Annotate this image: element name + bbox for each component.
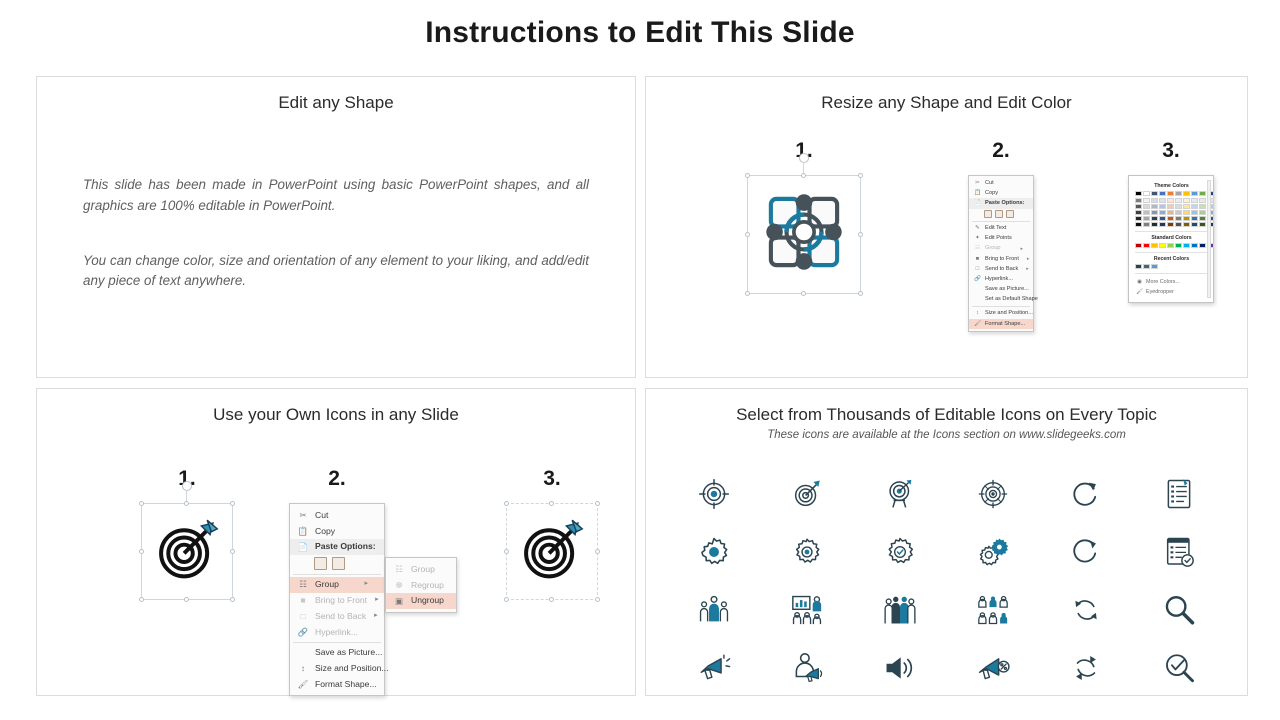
ctx-item-size-and-position[interactable]: ↕Size and Position... (969, 309, 1033, 319)
recent-colors-row[interactable] (1135, 264, 1207, 269)
send-back-icon: □ (973, 266, 982, 273)
ctx-label: Group (315, 579, 339, 590)
submenu-item-group[interactable]: ☷Group (386, 561, 456, 577)
target-stand-icon (883, 477, 917, 511)
ctx-label: Size and Position... (315, 663, 389, 674)
shape-context-menu[interactable]: ✂Cut 📋Copy 📄Paste Options: ✎Edit Text ✦E… (968, 175, 1034, 332)
regroup-icon: ☸ (392, 580, 406, 591)
editable-icons-grid (668, 465, 1225, 697)
theme-shade-swatch[interactable] (1191, 204, 1198, 209)
theme-shade-swatch[interactable] (1143, 204, 1150, 209)
rotate-handle-icon[interactable] (182, 481, 192, 491)
theme-shade-swatch[interactable] (1199, 216, 1206, 221)
ctx-item-save-as-picture[interactable]: Save as Picture... (290, 644, 384, 660)
divider (1135, 252, 1207, 253)
submenu-item-ungroup[interactable]: ▣Ungroup (386, 593, 456, 609)
size-position-icon: ↕ (296, 663, 310, 674)
ctx-item-save-as-picture[interactable]: Save as Picture... (969, 285, 1033, 295)
theme-shade-swatch[interactable] (1183, 210, 1190, 215)
more-colors-option[interactable]: ◉More Colors... (1135, 277, 1207, 287)
ungroup-icon: ▣ (392, 596, 406, 607)
theme-color-swatch[interactable] (1135, 191, 1142, 196)
theme-color-swatch[interactable] (1175, 191, 1182, 196)
ctx-item-copy[interactable]: 📋Copy (290, 523, 384, 539)
megaphone-icon (697, 651, 731, 685)
paste-option-buttons[interactable] (290, 555, 384, 573)
group-submenu[interactable]: ☷Group ☸Regroup ▣Ungroup (385, 557, 457, 613)
ctx-label: Format Shape... (315, 679, 377, 690)
ctx-item-hyperlink[interactable]: 🔗Hyperlink... (969, 274, 1033, 284)
resize-handle-ml[interactable] (745, 232, 750, 237)
divider (1135, 231, 1207, 232)
icon-cell[interactable] (883, 477, 917, 511)
gears-double-icon (976, 535, 1010, 569)
context-menu-art[interactable]: ✂Cut 📋Copy 📄Paste Options: ✎Edit Text ✦E… (968, 175, 1034, 332)
resize-handle-tc[interactable] (549, 501, 554, 506)
standard-color-swatch[interactable] (1151, 243, 1158, 248)
theme-shade-swatch[interactable] (1191, 222, 1198, 227)
gear-check-icon (883, 535, 917, 569)
person-megaphone-icon (790, 651, 824, 685)
standard-color-swatch[interactable] (1175, 243, 1182, 248)
standard-color-swatch[interactable] (1191, 243, 1198, 248)
ctx-label: Copy (315, 526, 335, 537)
resize-handle-bl[interactable] (139, 597, 144, 602)
gear-filled-icon (697, 535, 731, 569)
panel-subtitle-editable-icons: These icons are available at the Icons s… (646, 425, 1247, 441)
resize-handle-tc[interactable] (184, 501, 189, 506)
ctx-item-edit-text[interactable]: ✎Edit Text (969, 224, 1033, 234)
theme-shade-swatch[interactable] (1175, 222, 1182, 227)
resize-step-3: 3. Theme Colors Standard Colors Recent C… (1096, 139, 1246, 303)
theme-shade-swatch[interactable] (1167, 198, 1174, 203)
resize-handle-bl[interactable] (504, 597, 509, 602)
ctx-label: Save as Picture... (985, 286, 1029, 293)
ctx-label: Send to Back (985, 266, 1018, 273)
ctx-label: Regroup (411, 580, 444, 591)
icon-cell[interactable] (790, 593, 824, 627)
edit-shape-body: This slide has been made in PowerPoint u… (37, 175, 635, 292)
theme-shade-swatch[interactable] (1191, 216, 1198, 221)
standard-color-swatch[interactable] (1183, 243, 1190, 248)
ctx-separator (293, 574, 381, 575)
ctx-label: Edit Text (985, 225, 1006, 232)
resize-handle-br[interactable] (595, 597, 600, 602)
icon-cell[interactable] (1069, 651, 1103, 685)
color-picker-panel[interactable]: Theme Colors Standard Colors Recent Colo… (1128, 175, 1214, 303)
theme-shade-swatch[interactable] (1135, 210, 1142, 215)
scissors-icon: ✂ (296, 510, 310, 521)
standard-color-swatch[interactable] (1199, 243, 1206, 248)
step-number: 3. (1096, 139, 1246, 163)
ctx-label: Copy (985, 190, 998, 197)
theme-shade-swatch[interactable] (1135, 198, 1142, 203)
ctx-label: Send to Back (315, 611, 366, 622)
ctx-label: Cut (985, 180, 994, 187)
step-number: 2. (911, 139, 1091, 163)
edit-text-icon: ✎ (973, 225, 982, 232)
panel-editable-icons: Select from Thousands of Editable Icons … (645, 388, 1248, 696)
icon-cell[interactable] (697, 535, 731, 569)
resize-handle-bc[interactable] (184, 597, 189, 602)
recent-color-swatch[interactable] (1135, 264, 1142, 269)
panel-resize-shape: Resize any Shape and Edit Color 1. (645, 76, 1248, 378)
crosshair-scope-icon (976, 477, 1010, 511)
paste-picture-icon[interactable] (1006, 210, 1014, 218)
theme-shade-swatch[interactable] (1151, 216, 1158, 221)
theme-colors-shades-grid[interactable] (1135, 198, 1207, 227)
ctx-label: Ungroup (411, 595, 444, 606)
selected-shape-art[interactable] (747, 175, 861, 294)
theme-shade-swatch[interactable] (1183, 222, 1190, 227)
theme-colors-label: Theme Colors (1136, 183, 1207, 189)
edit-points-icon: ✦ (973, 235, 982, 242)
theme-shade-swatch[interactable] (1167, 222, 1174, 227)
more-colors-label: More Colors... (1146, 279, 1180, 285)
resize-handle-tr[interactable] (595, 501, 600, 506)
ctx-separator (972, 221, 1030, 222)
standard-color-swatch[interactable] (1135, 243, 1142, 248)
ctx-item-edit-points[interactable]: ✦Edit Points (969, 234, 1033, 244)
theme-shade-swatch[interactable] (1159, 210, 1166, 215)
selection-frame[interactable] (747, 175, 861, 294)
panel-title-own-icons: Use your Own Icons in any Slide (37, 389, 635, 425)
theme-shade-swatch[interactable] (1135, 204, 1142, 209)
ctx-item-cut[interactable]: ✂Cut (969, 178, 1033, 188)
group-context-menu-art[interactable]: ✂Cut 📋Copy 📄Paste Options: ☷Group▸ ■Brin… (289, 503, 385, 696)
refresh-arrow-icon (1069, 477, 1103, 511)
icon-cell[interactable] (883, 651, 917, 685)
resize-handle-br[interactable] (858, 291, 863, 296)
leader-team-icon (697, 593, 731, 627)
theme-shade-swatch[interactable] (1151, 204, 1158, 209)
theme-shade-swatch[interactable] (1167, 210, 1174, 215)
theme-shade-swatch[interactable] (1175, 198, 1182, 203)
ctx-item-format-shape[interactable]: 🖌Format Shape... (290, 676, 384, 692)
ctx-label: Hyperlink... (315, 627, 358, 638)
magnifier-check-icon (1162, 651, 1196, 685)
selection-frame[interactable] (141, 503, 233, 600)
theme-shade-swatch[interactable] (1143, 222, 1150, 227)
paste-icon: 📄 (973, 200, 982, 207)
selected-target-icon-art[interactable] (141, 503, 233, 600)
ctx-separator (293, 642, 381, 643)
paste-icon: 📄 (296, 542, 310, 553)
ctx-label: Format Shape... (985, 321, 1025, 328)
recent-color-swatch[interactable] (1143, 264, 1150, 269)
theme-color-swatch[interactable] (1199, 191, 1206, 196)
theme-shade-swatch[interactable] (1159, 198, 1166, 203)
theme-shade-swatch[interactable] (1199, 204, 1206, 209)
theme-shade-swatch[interactable] (1135, 216, 1142, 221)
step-number: 2. (222, 467, 452, 491)
ctx-item-group[interactable]: ☷Group▸ (290, 577, 384, 593)
ctx-item-format-shape[interactable]: 🖌Format Shape... (969, 319, 1033, 329)
team-network-icon (976, 593, 1010, 627)
standard-colors-row[interactable] (1135, 243, 1207, 248)
standard-color-swatch[interactable] (1159, 243, 1166, 248)
ungrouped-target-icon-art[interactable] (506, 503, 598, 600)
ctx-item-bring-to-front[interactable]: ■Bring to Front▸ (290, 593, 384, 609)
icon-cell[interactable] (976, 535, 1010, 569)
theme-shade-swatch[interactable] (1175, 210, 1182, 215)
theme-color-swatch[interactable] (1151, 191, 1158, 196)
icon-cell[interactable] (790, 651, 824, 685)
eyedropper-icon: 🖌 (1136, 289, 1143, 295)
ctx-label: Group (985, 245, 1001, 252)
dartboard-arrow-icon (151, 513, 223, 585)
resize-handle-ml[interactable] (504, 549, 509, 554)
theme-color-swatch[interactable] (1167, 191, 1174, 196)
resize-handle-bl[interactable] (745, 291, 750, 296)
chevron-right-icon: ▸ (1018, 266, 1029, 272)
chevron-right-icon: ▸ (367, 596, 379, 605)
paste-merge-formatting-icon[interactable] (995, 210, 1003, 218)
ctx-item-hyperlink[interactable]: 🔗Hyperlink... (290, 625, 384, 641)
ctx-label: Bring to Front (315, 595, 367, 606)
ctx-label: Bring to Front (985, 256, 1019, 263)
color-picker-scrollbar[interactable] (1207, 180, 1211, 298)
palette-icon: ◉ (1136, 279, 1143, 285)
chevron-right-icon: ▸ (1019, 256, 1030, 262)
icon-cell[interactable] (790, 477, 824, 511)
gear-circle-icon (790, 535, 824, 569)
icon-cell[interactable] (1162, 535, 1196, 569)
chevron-right-icon: ▸ (1012, 246, 1023, 252)
ctx-item-send-to-back[interactable]: □Send to Back▸ (290, 609, 384, 625)
theme-shade-swatch[interactable] (1183, 204, 1190, 209)
icon-cell[interactable] (883, 593, 917, 627)
theme-shade-swatch[interactable] (1143, 198, 1150, 203)
ctx-label: Cut (315, 510, 328, 521)
speaker-loud-icon (883, 651, 917, 685)
resize-step-1: 1. (714, 139, 894, 294)
icon-cell[interactable] (697, 651, 731, 685)
edit-shape-paragraph-2: You can change color, size and orientati… (83, 251, 589, 293)
paste-picture-icon[interactable] (332, 557, 345, 570)
hyperlink-icon: 🔗 (296, 627, 310, 638)
sync-circle-icon (1069, 651, 1103, 685)
icon-cell[interactable] (976, 477, 1010, 511)
ctx-item-copy[interactable]: 📋Copy (969, 188, 1033, 198)
theme-shade-swatch[interactable] (1167, 204, 1174, 209)
people-group-icon (883, 593, 917, 627)
ctx-label: Edit Points (985, 235, 1012, 242)
icon-cell[interactable] (790, 535, 824, 569)
ctx-label: Save as Picture... (315, 647, 382, 658)
ctx-item-bring-to-front[interactable]: ■Bring to Front▸ (969, 254, 1033, 264)
refresh-circle-icon (1069, 535, 1103, 569)
paste-option-buttons[interactable] (969, 209, 1033, 220)
theme-shade-swatch[interactable] (1143, 210, 1150, 215)
group-context-menu[interactable]: ✂Cut 📋Copy 📄Paste Options: ☷Group▸ ■Brin… (289, 503, 385, 696)
theme-color-swatch[interactable] (1191, 191, 1198, 196)
color-picker-art[interactable]: Theme Colors Standard Colors Recent Colo… (1128, 175, 1214, 303)
ctx-item-paste-options: 📄Paste Options: (290, 539, 384, 555)
ctx-item-size-and-position[interactable]: ↕Size and Position... (290, 660, 384, 676)
submenu-item-regroup[interactable]: ☸Regroup (386, 577, 456, 593)
icon-cell[interactable] (1162, 477, 1196, 511)
ctx-label: Group (411, 564, 435, 575)
target-crosshair-icon (697, 477, 731, 511)
dartboard-arrow-icon (790, 477, 824, 511)
ctx-separator (972, 306, 1030, 307)
document-check-icon (1162, 535, 1196, 569)
icon-cell[interactable] (976, 651, 1010, 685)
theme-shade-swatch[interactable] (1199, 198, 1206, 203)
ctx-label: Size and Position... (985, 310, 1033, 317)
theme-color-swatch[interactable] (1183, 191, 1190, 196)
dartboard-arrow-icon (516, 513, 588, 585)
chevron-right-icon: ▸ (356, 580, 368, 589)
edit-shape-paragraph-1: This slide has been made in PowerPoint u… (83, 175, 589, 217)
ctx-label: Hyperlink... (985, 276, 1013, 283)
theme-shade-swatch[interactable] (1183, 216, 1190, 221)
own-icons-step-3: 3. (467, 467, 637, 600)
theme-shade-swatch[interactable] (1151, 198, 1158, 203)
presentation-team-icon (790, 593, 824, 627)
format-shape-icon: 🖌 (973, 321, 982, 328)
theme-colors-base-row[interactable] (1135, 191, 1207, 196)
magnifier-icon (1162, 593, 1196, 627)
scissors-icon: ✂ (973, 180, 982, 187)
rotate-handle-icon[interactable] (799, 153, 809, 163)
resize-handle-tl[interactable] (139, 501, 144, 506)
icon-cell[interactable] (697, 593, 731, 627)
recent-colors-label: Recent Colors (1136, 256, 1207, 262)
copy-icon: 📋 (973, 190, 982, 197)
theme-shade-swatch[interactable] (1167, 216, 1174, 221)
ctx-item-send-to-back[interactable]: □Send to Back▸ (969, 264, 1033, 274)
ctx-item-cut[interactable]: ✂Cut (290, 507, 384, 523)
theme-shade-swatch[interactable] (1191, 198, 1198, 203)
icon-cell[interactable] (1069, 593, 1103, 627)
theme-shade-swatch[interactable] (1159, 222, 1166, 227)
divider (1135, 273, 1207, 274)
theme-shade-swatch[interactable] (1135, 222, 1142, 227)
eyedropper-option[interactable]: 🖌Eyedropper (1135, 287, 1207, 297)
ctx-label: Set as Default Shape (985, 296, 1038, 303)
theme-shade-swatch[interactable] (1151, 210, 1158, 215)
copy-icon: 📋 (296, 526, 310, 537)
group-icon: ☷ (296, 579, 310, 590)
theme-shade-swatch[interactable] (1191, 210, 1198, 215)
ctx-item-set-default-shape[interactable]: Set as Default Shape (969, 295, 1033, 305)
paste-keep-formatting-icon[interactable] (984, 210, 992, 218)
four-quadrant-shape-icon (758, 186, 850, 278)
slide-canvas: Instructions to Edit This Slide Edit any… (0, 0, 1280, 720)
icon-cell[interactable] (697, 477, 731, 511)
resize-handle-bc[interactable] (549, 597, 554, 602)
ctx-item-paste-options: 📄Paste Options: (969, 198, 1033, 208)
resize-handle-bc[interactable] (801, 291, 806, 296)
resize-step-2: 2. ✂Cut 📋Copy 📄Paste Options: ✎Edit Text… (911, 139, 1091, 332)
theme-color-swatch[interactable] (1159, 191, 1166, 196)
bring-front-icon: ■ (973, 256, 982, 263)
resize-handle-tc[interactable] (801, 173, 806, 178)
size-position-icon: ↕ (973, 310, 982, 317)
bring-front-icon: ■ (296, 595, 310, 606)
resize-handle-tl[interactable] (745, 173, 750, 178)
theme-shade-swatch[interactable] (1143, 216, 1150, 221)
theme-shade-swatch[interactable] (1159, 216, 1166, 221)
panel-edit-any-shape: Edit any Shape This slide has been made … (36, 76, 636, 378)
resize-handle-mr[interactable] (858, 232, 863, 237)
standard-color-swatch[interactable] (1167, 243, 1174, 248)
send-back-icon: □ (296, 611, 310, 622)
panel-title-editable-icons: Select from Thousands of Editable Icons … (646, 389, 1247, 425)
ctx-label: Paste Options: (315, 541, 376, 552)
theme-color-swatch[interactable] (1143, 191, 1150, 196)
paste-keep-formatting-icon[interactable] (314, 557, 327, 570)
megaphone-percent-icon (976, 651, 1010, 685)
own-icons-step-2: 2. ✂Cut 📋Copy 📄Paste Options: ☷Group▸ ■B… (222, 467, 452, 696)
chevron-right-icon: ▸ (366, 612, 378, 621)
theme-shade-swatch[interactable] (1175, 204, 1182, 209)
standard-color-swatch[interactable] (1143, 243, 1150, 248)
icon-cell[interactable] (1069, 535, 1103, 569)
panel-own-icons: Use your Own Icons in any Slide 1. (36, 388, 636, 696)
standard-colors-label: Standard Colors (1136, 235, 1207, 241)
selection-frame-ungrouped[interactable] (506, 503, 598, 600)
document-list-icon (1162, 477, 1196, 511)
resize-handle-tr[interactable] (858, 173, 863, 178)
resize-handle-mr[interactable] (595, 549, 600, 554)
group-icon: ☷ (392, 564, 406, 575)
ctx-label: Paste Options: (985, 200, 1024, 207)
theme-shade-swatch[interactable] (1175, 216, 1182, 221)
theme-shade-swatch[interactable] (1151, 222, 1158, 227)
resize-handle-tl[interactable] (504, 501, 509, 506)
icon-cell[interactable] (1162, 651, 1196, 685)
recent-color-swatch[interactable] (1151, 264, 1158, 269)
sync-arrows-icon (1069, 593, 1103, 627)
panel-title-edit-shape: Edit any Shape (37, 77, 635, 113)
resize-handle-ml[interactable] (139, 549, 144, 554)
group-icon: ☷ (973, 245, 982, 252)
page-title: Instructions to Edit This Slide (0, 16, 1280, 50)
hyperlink-icon: 🔗 (973, 276, 982, 283)
theme-shade-swatch[interactable] (1159, 204, 1166, 209)
format-shape-icon: 🖌 (296, 679, 310, 690)
icon-cell[interactable] (1162, 593, 1196, 627)
theme-shade-swatch[interactable] (1199, 222, 1206, 227)
theme-shade-swatch[interactable] (1199, 210, 1206, 215)
theme-shade-swatch[interactable] (1183, 198, 1190, 203)
icon-cell[interactable] (976, 593, 1010, 627)
panel-title-resize-shape: Resize any Shape and Edit Color (646, 77, 1247, 113)
step-number: 3. (467, 467, 637, 491)
icon-cell[interactable] (1069, 477, 1103, 511)
icon-cell[interactable] (883, 535, 917, 569)
ctx-item-group[interactable]: ☷Group▸ (969, 244, 1033, 254)
eyedropper-label: Eyedropper (1146, 289, 1174, 295)
